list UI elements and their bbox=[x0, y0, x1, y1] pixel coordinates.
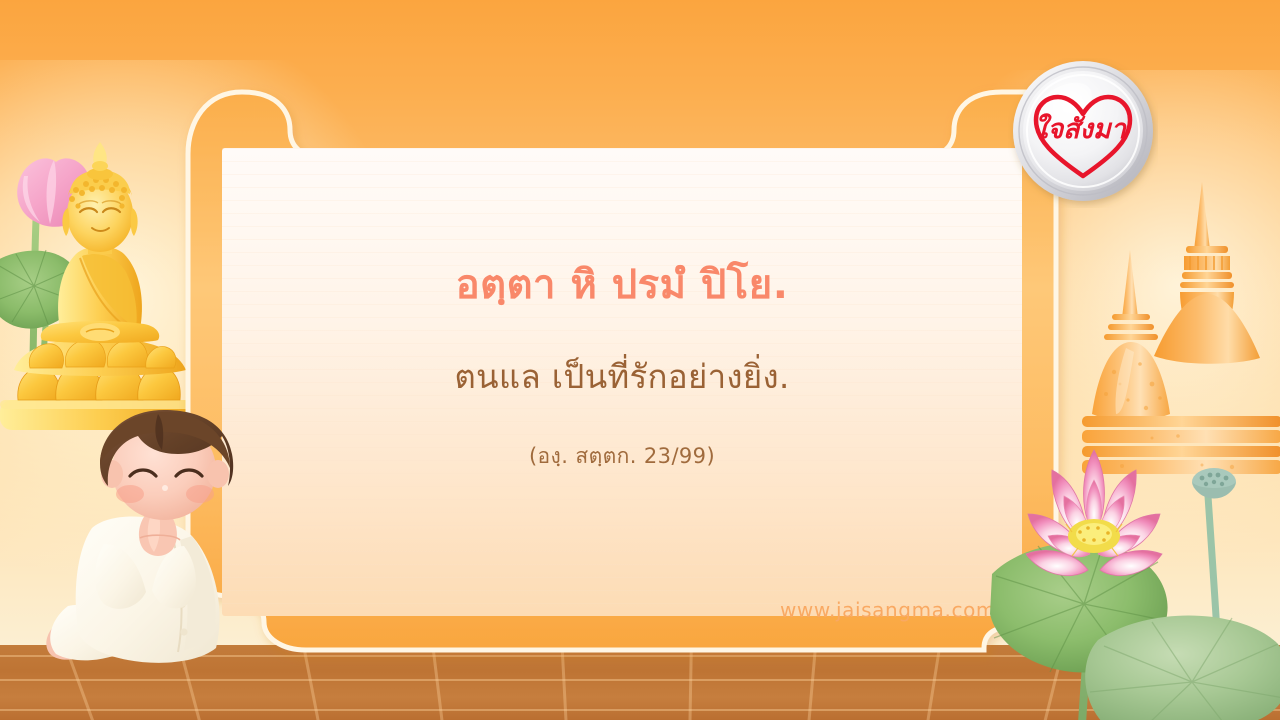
quote-content: อตฺตา หิ ปรมํ ปิโย. ตนแล เป็นที่รักอย่าง… bbox=[178, 82, 1066, 660]
thai-translation-text: ตนแล เป็นที่รักอย่างยิ่ง. bbox=[454, 354, 789, 400]
scripture-citation: (องฺ. สตฺตก. 23/99) bbox=[529, 440, 715, 473]
decorative-frame: อตฺตา หิ ปรมํ ปิโย. ตนแล เป็นที่รักอย่าง… bbox=[178, 82, 1066, 660]
pali-quote-text: อตฺตา หิ ปรมํ ปิโย. bbox=[456, 258, 789, 312]
website-url[interactable]: www.jaisangma.com bbox=[780, 598, 996, 622]
logo-text: ใจสั่งมา bbox=[1034, 109, 1127, 145]
logo-badge[interactable]: ใจสั่งมา bbox=[1008, 58, 1158, 208]
logo-medallion[interactable]: ใจสั่งมา bbox=[1008, 58, 1158, 208]
poster-canvas: อตฺตา หิ ปรมํ ปิโย. ตนแล เป็นที่รักอย่าง… bbox=[0, 0, 1280, 720]
